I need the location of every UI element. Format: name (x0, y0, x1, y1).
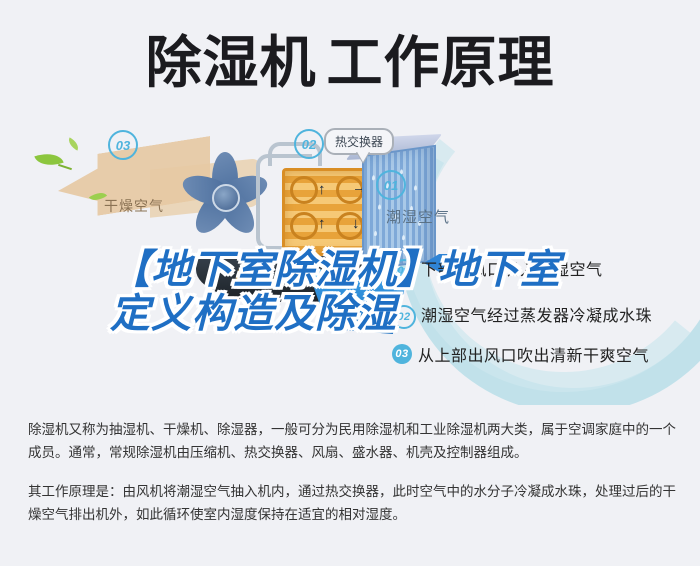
page-title-part2: 工作原理 (327, 31, 555, 94)
article-paragraph-2: 其工作原理是：由风机将潮湿空气抽入机内，通过热交换器，此时空气中的水分子冷凝成水… (28, 480, 676, 526)
callout-pointer-icon (356, 150, 370, 162)
coil-ring (336, 212, 364, 240)
fan-hub (212, 184, 240, 212)
step-number-03: 03 (392, 344, 412, 364)
page-title-part1: 除湿机 (146, 31, 317, 94)
overlay-headline-line2: 定义构造及除湿 (110, 292, 670, 336)
dry-air-label: 干燥空气 (104, 196, 164, 216)
flow-arrow-down-icon: ↓ (352, 216, 360, 231)
article-paragraph-1: 除湿机又称为抽湿机、干燥机、除湿器，一般可分为民用除湿机和工业除湿机两大类，属于… (28, 418, 676, 464)
humid-air-label: 潮湿空气 (386, 206, 450, 227)
badge-02: 02 (294, 129, 324, 159)
step-text-03: 从上部出风口吹出清新干爽空气 (418, 342, 649, 366)
leaf-icon (34, 148, 63, 170)
leaf-icon (66, 137, 81, 150)
coil-ring (290, 212, 318, 240)
step-description-03: 03从上部出风口吹出清新干爽空气 (392, 342, 649, 366)
flow-arrow-up-icon: ↑ (318, 182, 326, 197)
article-body: 除湿机又称为抽湿机、干燥机、除湿器，一般可分为民用除湿机和工业除湿机两大类，属于… (28, 418, 676, 526)
overlay-headline-line1: 【地下室除湿机】地下室 (110, 248, 670, 292)
page-title: 除湿机工作原理 (0, 28, 700, 98)
coil-ring (290, 176, 318, 204)
overlay-headline: 【地下室除湿机】地下室 定义构造及除湿 (110, 248, 670, 336)
badge-03: 03 (108, 130, 138, 160)
flow-arrow-up-icon: ↑ (318, 216, 326, 231)
badge-01: 01 (376, 170, 406, 200)
leaf-stem-icon (58, 164, 72, 170)
